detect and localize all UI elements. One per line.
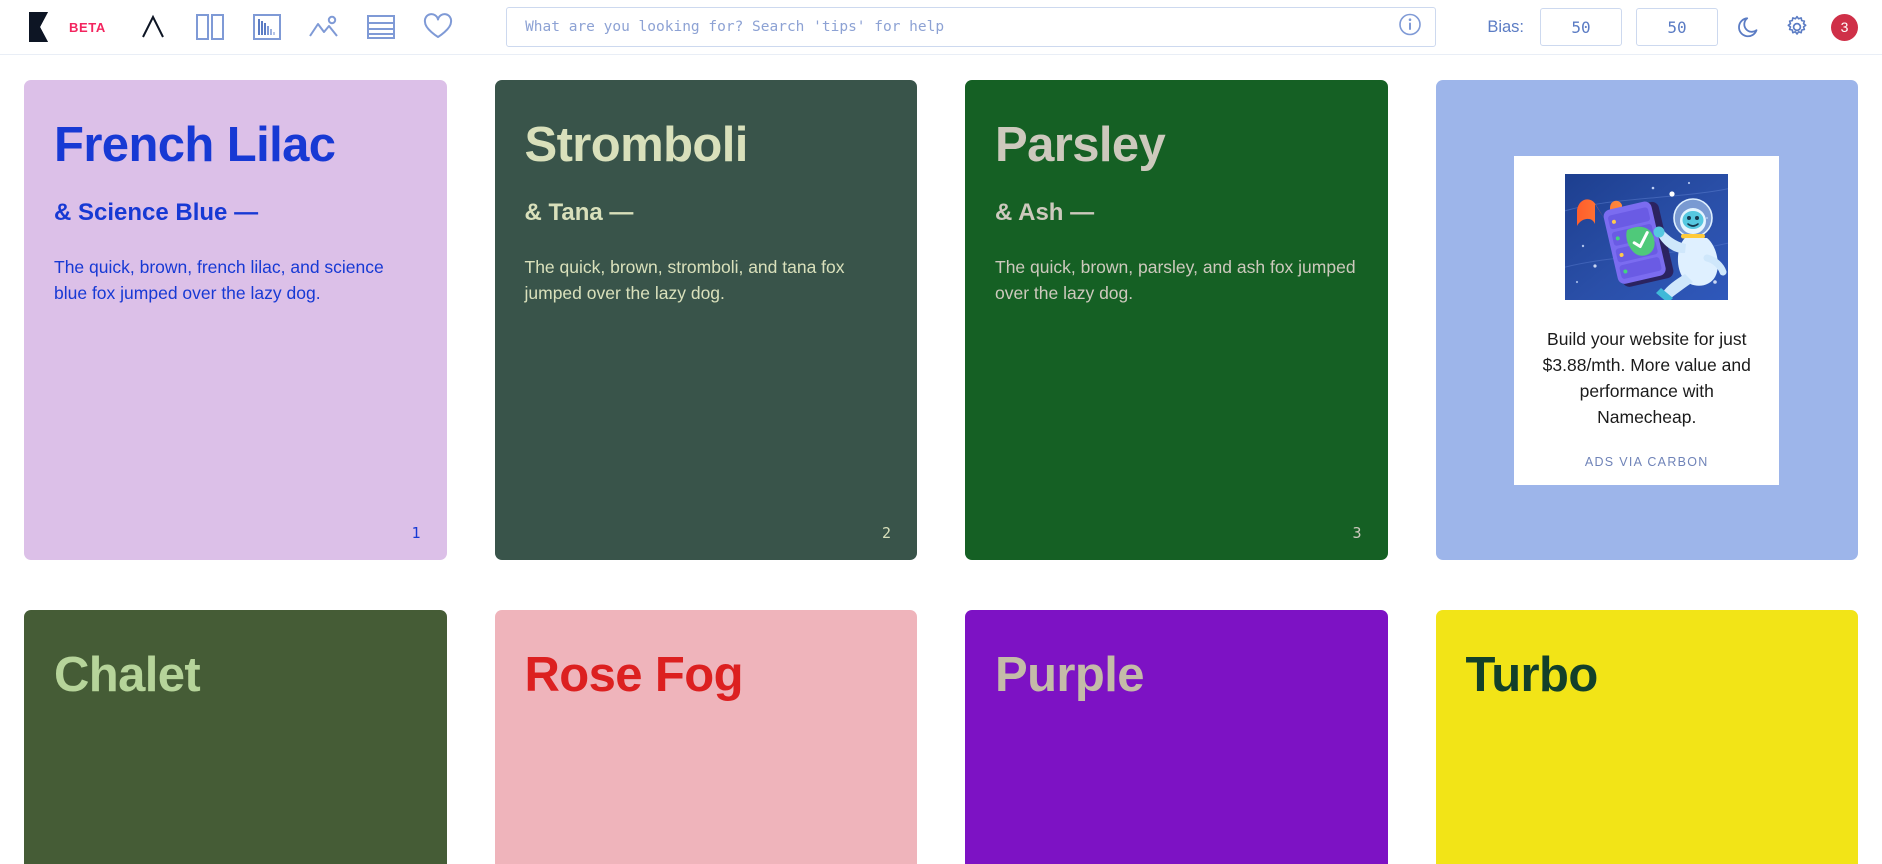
two-column-layout-icon[interactable] bbox=[193, 10, 227, 44]
card-title: Rose Fog bbox=[525, 648, 888, 703]
bar-chart-icon[interactable] bbox=[250, 10, 284, 44]
card-title: Chalet bbox=[54, 648, 417, 703]
k-logo[interactable] bbox=[26, 10, 60, 44]
color-card-grid-row2: Chalet Rose Fog Purple Turbo bbox=[0, 560, 1882, 864]
color-card[interactable]: Purple bbox=[965, 610, 1388, 864]
card-title: Stromboli bbox=[525, 118, 888, 173]
info-icon[interactable] bbox=[1398, 13, 1422, 42]
brand-area[interactable]: BETA bbox=[26, 10, 106, 44]
search-area bbox=[455, 7, 1487, 47]
card-body: The quick, brown, french lilac, and scie… bbox=[54, 254, 417, 307]
namecheap-yeti-astronaut-illustration bbox=[1565, 174, 1728, 300]
card-number: 2 bbox=[882, 524, 891, 542]
bias-input-2[interactable] bbox=[1636, 8, 1718, 46]
advertisement-card[interactable]: Build your website for just $3.88/mth. M… bbox=[1436, 80, 1859, 560]
card-subtitle: & Tana — bbox=[525, 199, 888, 228]
gear-icon[interactable] bbox=[1780, 10, 1814, 44]
ads-via-carbon-link[interactable]: ADS VIA CARBON bbox=[1585, 455, 1709, 469]
image-mountain-icon[interactable] bbox=[307, 10, 341, 44]
card-body: The quick, brown, stromboli, and tana fo… bbox=[525, 254, 888, 307]
color-card[interactable]: Parsley & Ash — The quick, brown, parsle… bbox=[965, 80, 1388, 560]
ad-text: Build your website for just $3.88/mth. M… bbox=[1530, 326, 1763, 431]
card-title: Parsley bbox=[995, 118, 1358, 173]
card-number: 1 bbox=[411, 524, 420, 542]
color-card[interactable]: Rose Fog bbox=[495, 610, 918, 864]
beta-badge: BETA bbox=[69, 20, 106, 35]
toolbar-icon-group bbox=[136, 10, 455, 44]
moon-icon[interactable] bbox=[1732, 10, 1766, 44]
table-rows-icon[interactable] bbox=[364, 10, 398, 44]
color-card[interactable]: Stromboli & Tana — The quick, brown, str… bbox=[495, 80, 918, 560]
color-card[interactable]: Turbo bbox=[1436, 610, 1859, 864]
right-toolbar: Bias: 3 bbox=[1487, 8, 1862, 46]
color-card[interactable]: French Lilac & Science Blue — The quick,… bbox=[24, 80, 447, 560]
card-title: Purple bbox=[995, 648, 1358, 703]
color-card-grid: French Lilac & Science Blue — The quick,… bbox=[0, 55, 1882, 560]
notification-badge[interactable]: 3 bbox=[1831, 14, 1858, 41]
top-toolbar: BETA bbox=[0, 0, 1882, 55]
heart-icon[interactable] bbox=[421, 10, 455, 44]
ad-inner-panel: Build your website for just $3.88/mth. M… bbox=[1514, 156, 1779, 485]
card-subtitle: & Science Blue — bbox=[54, 199, 417, 228]
search-box bbox=[506, 7, 1436, 47]
bias-input-1[interactable] bbox=[1540, 8, 1622, 46]
card-body: The quick, brown, parsley, and ash fox j… bbox=[995, 254, 1358, 307]
card-subtitle: & Ash — bbox=[995, 199, 1358, 228]
card-title: French Lilac bbox=[54, 118, 417, 173]
card-number: 3 bbox=[1352, 524, 1361, 542]
search-input[interactable] bbox=[506, 7, 1436, 47]
bias-label: Bias: bbox=[1487, 18, 1524, 37]
card-title: Turbo bbox=[1466, 648, 1829, 703]
color-card[interactable]: Chalet bbox=[24, 610, 447, 864]
typography-icon[interactable] bbox=[136, 10, 170, 44]
